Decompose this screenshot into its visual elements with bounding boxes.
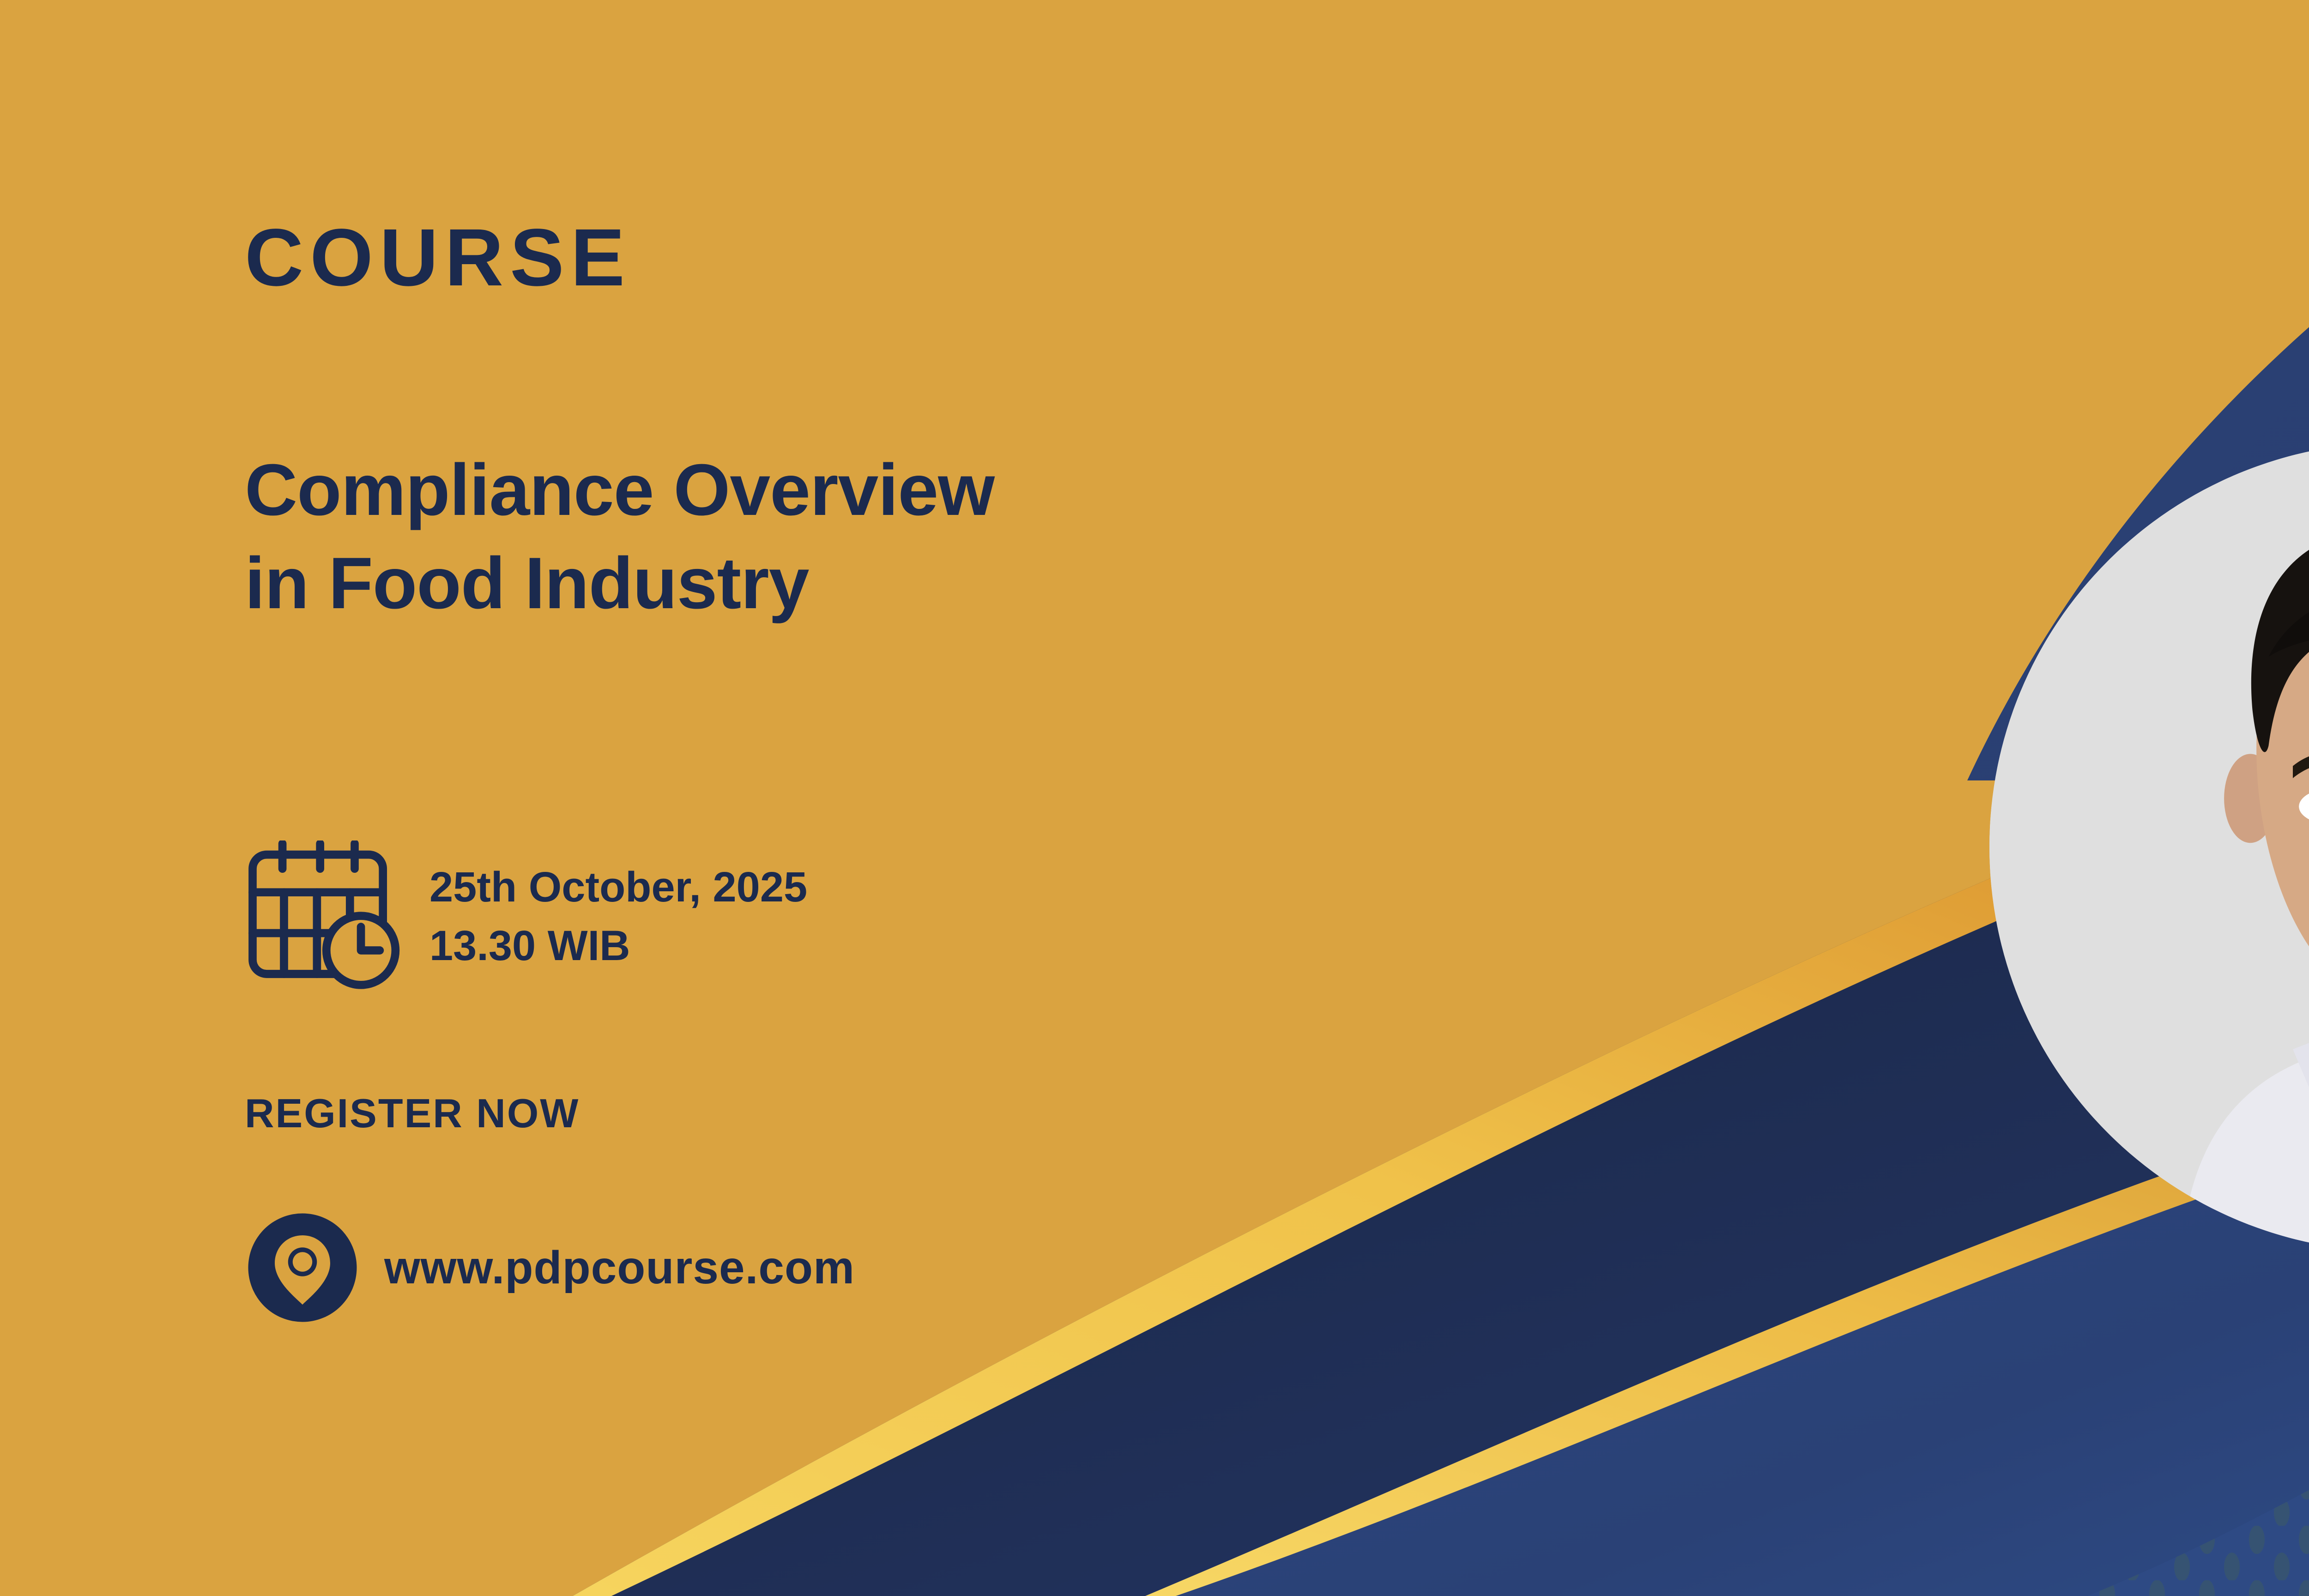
website-row[interactable]: www.pdpcourse.com [245, 1210, 855, 1325]
event-date: 25th October, 2025 [429, 858, 807, 917]
headline-line-2: in Food Industry [245, 537, 1584, 630]
headline-line-1: Compliance Overview [245, 449, 994, 531]
poster-content: COURSE Compliance Overview in Food Indus… [245, 0, 1630, 1596]
datetime-text-group: 25th October, 2025 13.30 WIB [429, 858, 807, 975]
event-time: 13.30 WIB [429, 917, 807, 975]
calendar-clock-icon [245, 840, 402, 993]
course-promo-poster: COURSE Compliance Overview in Food Indus… [0, 0, 2309, 1596]
location-pin-icon [245, 1210, 360, 1325]
kicker-label: COURSE [245, 217, 631, 298]
page-title: Compliance Overview in Food Industry [245, 443, 1584, 630]
website-url[interactable]: www.pdpcourse.com [384, 1241, 855, 1294]
event-datetime: 25th October, 2025 13.30 WIB [245, 840, 807, 993]
register-now-label: REGISTER NOW [245, 1090, 580, 1137]
